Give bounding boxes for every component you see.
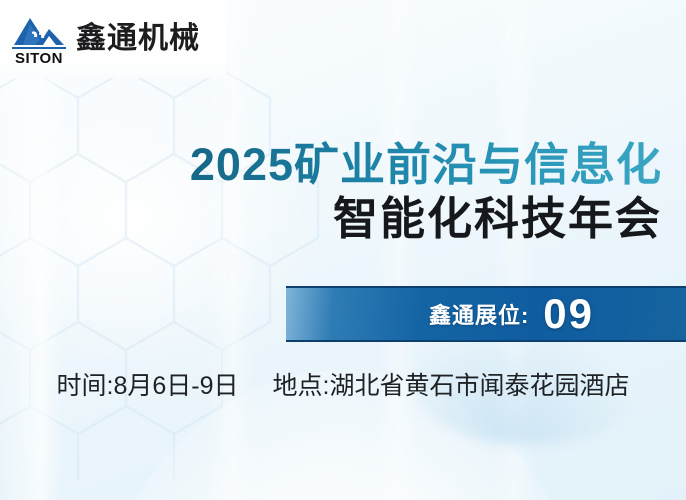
- brand-name-cn: 鑫通机械: [76, 24, 200, 54]
- page-title: 2025矿业前沿与信息化 智能化科技年会: [0, 140, 662, 245]
- svg-text:SITON: SITON: [15, 50, 63, 66]
- hexagon-pattern-icon: [0, 60, 380, 480]
- booth-banner: 鑫通展位: 09: [286, 286, 686, 342]
- event-poster: SITON 鑫通机械 2025矿业前沿与信息化 智能化科技年会 鑫通展位: 09…: [0, 0, 686, 500]
- event-time: 时间:8月6日-9日: [57, 366, 239, 402]
- title-line-1: 2025矿业前沿与信息化: [0, 140, 662, 190]
- event-location: 地点:湖北省黄石市闻泰花园酒店: [273, 366, 630, 402]
- booth-number: 09: [543, 293, 594, 335]
- brand-logo: SITON 鑫通机械: [0, 0, 226, 78]
- event-details: 时间:8月6日-9日 地点:湖北省黄石市闻泰花园酒店: [0, 366, 686, 402]
- mountain-logo-icon: SITON: [10, 12, 68, 66]
- title-line-2: 智能化科技年会: [0, 194, 662, 244]
- booth-label: 鑫通展位:: [429, 298, 529, 330]
